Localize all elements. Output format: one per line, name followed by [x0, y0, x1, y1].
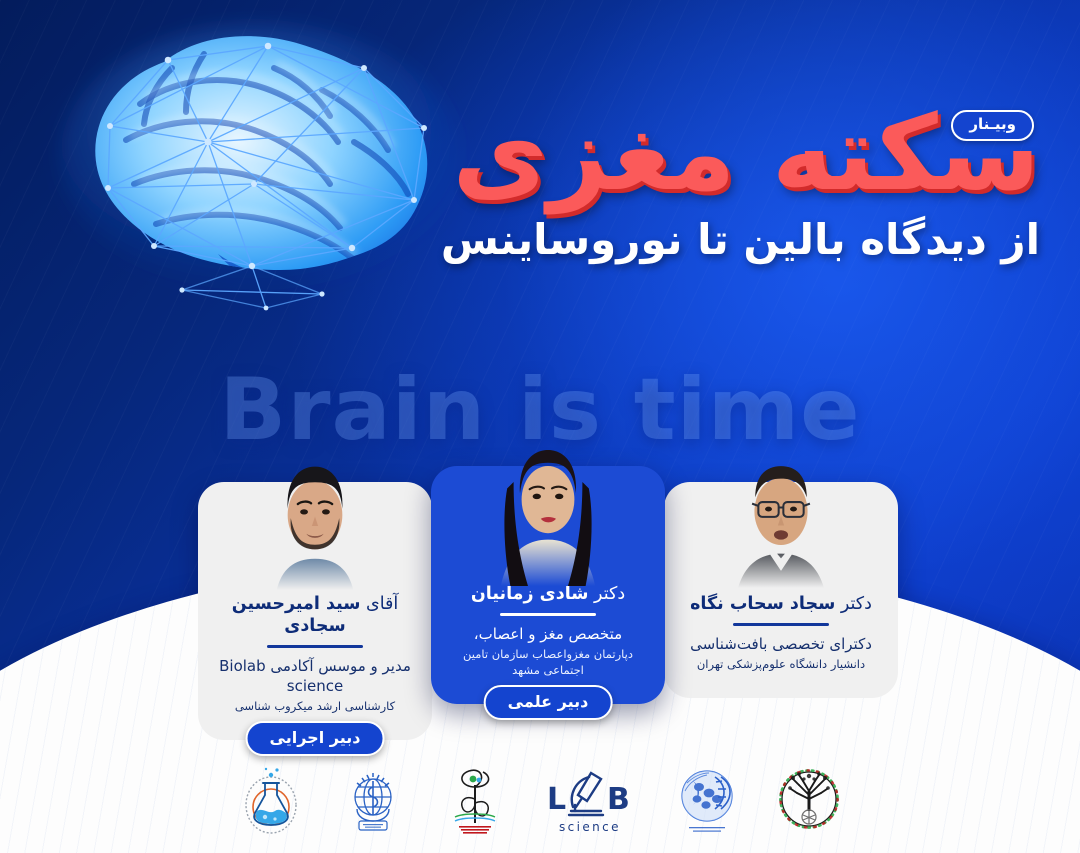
speaker-card: دکتر شادی زمانیان متخصص مغز و اعصاب، دپا…: [431, 466, 665, 704]
speaker-role: دکترای تخصصی بافت‌شناسی: [676, 634, 886, 654]
speaker-card: دکتر سجاد سحاب نگاه دکترای تخصصی بافت‌شن…: [664, 482, 898, 698]
speaker-name: آقای سید امیرحسین سجادی: [210, 594, 420, 638]
speaker-role: متخصص مغز و اعصاب،: [443, 624, 653, 644]
speaker-badge: دبیر علمی: [484, 685, 613, 720]
speaker-card: آقای سید امیرحسین سجادی مدیر و موسس آکاد…: [198, 482, 432, 740]
lab-science-microscope-logo: L B science: [545, 765, 637, 837]
speaker-name: دکتر شادی زمانیان: [443, 584, 653, 606]
webinar-poster: وبیـنار سکته مغزی از دیدگاه بالین تا نور…: [0, 0, 1080, 853]
speaker-affiliation: کارشناسی ارشد میکروب شناسی: [210, 698, 420, 714]
plant-sprout-logo: [443, 765, 507, 837]
sponsor-logos: L B science: [0, 765, 1080, 837]
svg-text:L: L: [547, 782, 566, 817]
speaker-affiliation: دپارتمان مغزواعصاب سازمان تامین اجتماعی …: [443, 646, 653, 678]
svg-text:B: B: [607, 782, 630, 817]
divider: [733, 623, 829, 626]
flask-lab-logo: [239, 765, 303, 837]
speaker-card-body: آقای سید امیرحسین سجادی مدیر و موسس آکاد…: [198, 482, 432, 740]
speaker-card-body: دکتر سجاد سحاب نگاه دکترای تخصصی بافت‌شن…: [664, 482, 898, 698]
webinar-badge: وبیـنار: [951, 110, 1034, 141]
dna-brain-mashhad-university-logo: [675, 765, 739, 837]
title-block: وبیـنار سکته مغزی از دیدگاه بالین تا نور…: [400, 104, 1040, 267]
speaker-role: مدیر و موسس آکادمی Biolab science: [210, 656, 420, 697]
speaker-name: دکتر سجاد سحاب نگاه: [676, 594, 886, 616]
speakers-cards: آقای سید امیرحسین سجادی مدیر و موسس آکاد…: [198, 440, 898, 690]
page-subtitle: از دیدگاه بالین تا نوروساینس: [400, 214, 1040, 267]
speaker-affiliation: دانشیار دانشگاه علوم‌پزشکی تهران: [676, 656, 886, 672]
divider: [500, 613, 596, 616]
divider: [267, 645, 363, 648]
page-title: سکته مغزی: [400, 100, 1040, 206]
globe-caduceus-university-logo: [341, 765, 405, 837]
svg-text:science: science: [559, 820, 621, 834]
tree-roots-logo: [777, 765, 841, 837]
speaker-badge: دبیر اجرایی: [246, 721, 385, 756]
speaker-card-body: دکتر شادی زمانیان متخصص مغز و اعصاب، دپا…: [431, 466, 665, 704]
